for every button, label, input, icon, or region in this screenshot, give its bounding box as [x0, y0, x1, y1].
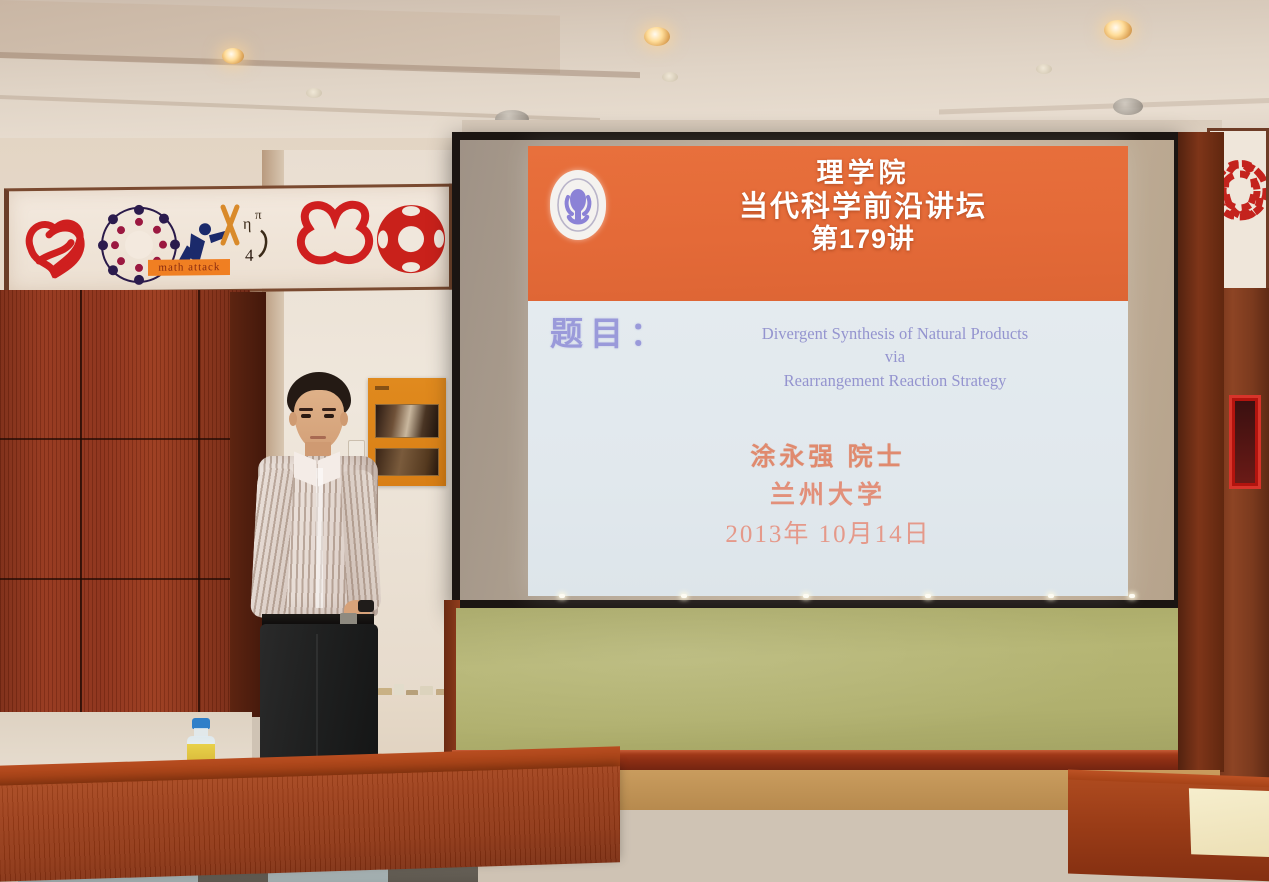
presenter-ear: [340, 412, 348, 426]
lecture-hall-photo: η π 4 math attack: [0, 0, 1269, 882]
stage-wall-olive-panel: [456, 608, 1180, 756]
math-attack-badge: math attack: [148, 259, 230, 276]
wall-wood-paneling-left: [0, 290, 250, 715]
front-desk-left: [0, 766, 620, 882]
slide-title-label: 题目：: [550, 319, 670, 352]
presenter-eye: [324, 414, 334, 418]
screen-bottom-reflections: [478, 594, 1156, 598]
panel-seam: [198, 290, 200, 715]
recessed-downlight: [644, 27, 670, 46]
red-torus-ring: [377, 205, 445, 274]
slide-header-line-3: 第179讲: [608, 224, 1118, 256]
presenter-shirt-placket: [316, 468, 323, 608]
svg-text:η: η: [243, 216, 251, 233]
svg-text:π: π: [255, 207, 262, 222]
screen-surface: 理学院 当代科学前沿讲坛 第179讲 题目： Divergent Synthes…: [460, 140, 1174, 600]
slide-date: 2013年 10月14日: [528, 515, 1128, 555]
slide-body: 题目： Divergent Synthesis of Natural Produ…: [528, 301, 1128, 596]
presenter-eyebrow: [299, 408, 313, 411]
presenter-eyebrow: [322, 408, 336, 411]
presenter-mouth: [310, 436, 326, 439]
slide-speaker-affiliation: 兰州大学: [528, 477, 1128, 516]
slide-title-line-3: Rearrangement Reaction Strategy: [676, 369, 1114, 392]
slide-title-line-1: Divergent Synthesis of Natural Products: [676, 322, 1114, 345]
presenter-face: [294, 390, 344, 450]
projected-slide: 理学院 当代科学前沿讲坛 第179讲 题目： Divergent Synthes…: [528, 146, 1128, 596]
slide-title-line-2: via: [676, 345, 1114, 368]
svg-text:4: 4: [245, 246, 254, 265]
recessed-downlight: [1104, 20, 1132, 40]
math-art-banner: η π 4 math attack: [4, 184, 452, 295]
ceiling-step-line-right: [939, 98, 1269, 115]
slide-title-row: 题目： Divergent Synthesis of Natural Produ…: [550, 319, 1114, 392]
sprinkler-head: [1036, 64, 1052, 74]
recessed-downlight: [222, 48, 244, 64]
math-art-banner-artwork: η π 4: [9, 187, 449, 292]
presentation-clicker: [358, 600, 374, 612]
slide-header: 理学院 当代科学前沿讲坛 第179讲: [528, 146, 1128, 301]
slide-header-line-2: 当代科学前沿讲坛: [608, 190, 1118, 224]
paper-sheet: [1189, 788, 1269, 858]
red-framed-fixture: [1229, 395, 1261, 489]
stage-wall-right-column: [1178, 132, 1224, 772]
panel-seam: [80, 290, 82, 715]
tulip-logo-glyph: [556, 177, 600, 233]
trefoil-knot: [301, 205, 369, 261]
slide-speaker-block: 涂永强 院士 兰州大学 2013年 10月14日: [528, 439, 1128, 555]
slide-title-text: Divergent Synthesis of Natural Products …: [676, 319, 1114, 392]
presenter-ear: [289, 412, 297, 426]
presenter: [232, 372, 397, 790]
projection-screen: 理学院 当代科学前沿讲坛 第179讲 题目： Divergent Synthes…: [452, 132, 1182, 610]
panel-seam: [0, 438, 250, 440]
presenter-eye: [301, 414, 311, 418]
slide-speaker-name: 涂永强 院士: [528, 439, 1128, 477]
slide-header-text: 理学院 当代科学前沿讲坛 第179讲: [608, 158, 1118, 256]
sprinkler-head: [662, 72, 678, 82]
panel-seam: [0, 578, 250, 580]
ceiling-speaker: [1113, 98, 1143, 115]
slide-header-line-1: 理学院: [608, 158, 1118, 190]
sprinkler-head: [306, 88, 322, 98]
university-tulip-logo: [550, 170, 606, 240]
